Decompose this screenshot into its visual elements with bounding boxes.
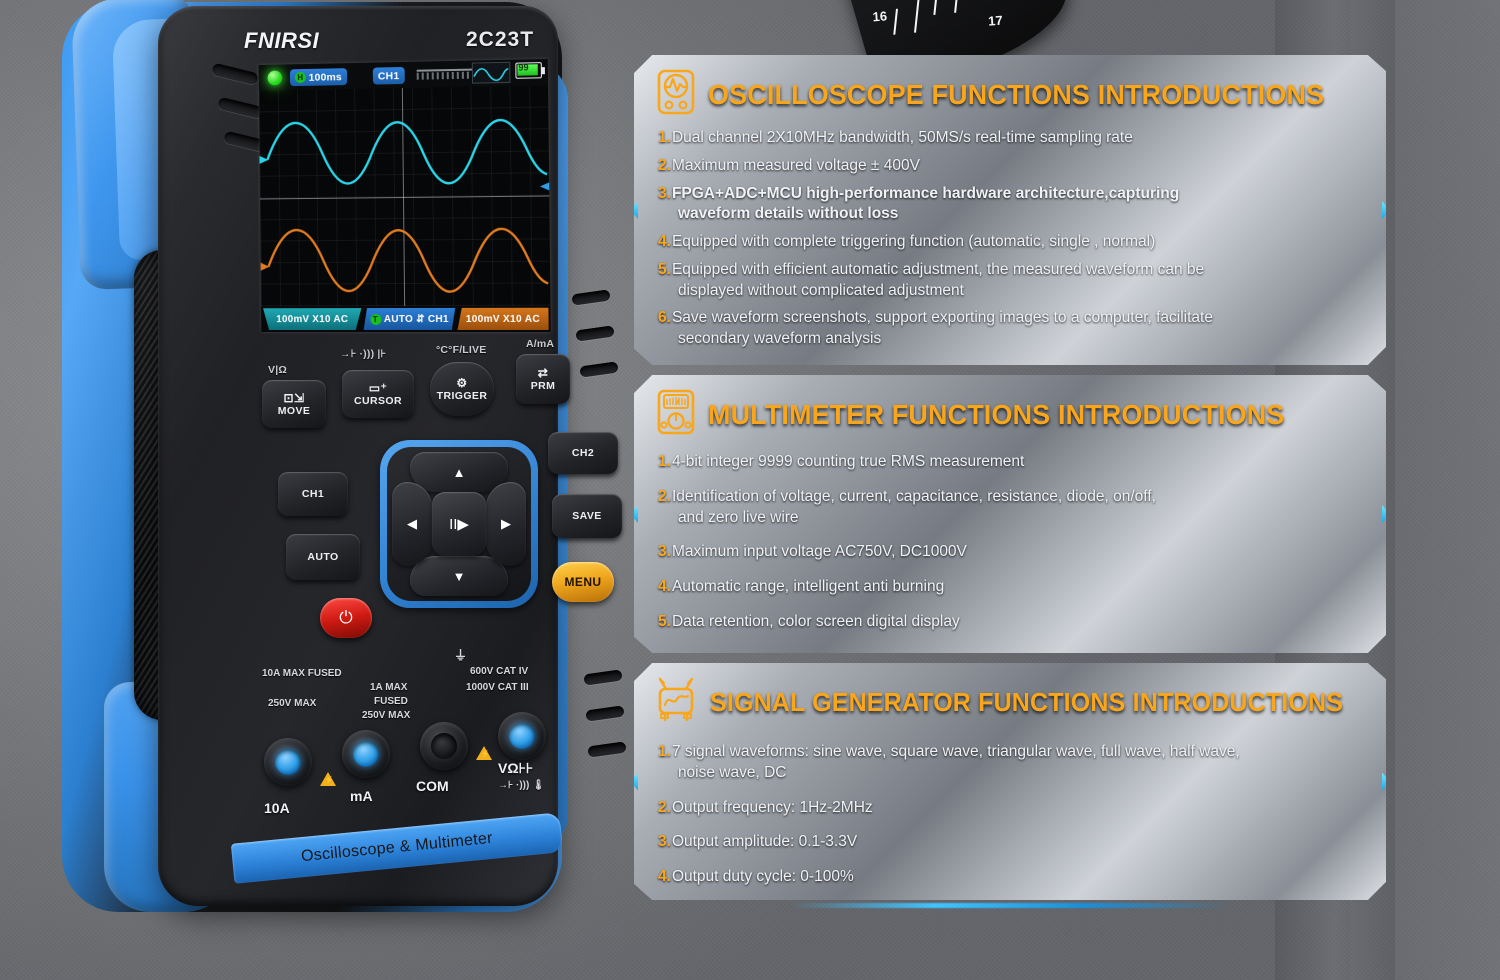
panel-multimeter: MULTIMETER FUNCTIONS INTRODUCTIONS 1. 4-…: [634, 375, 1386, 653]
item-number: 3.: [658, 184, 671, 205]
move-label: MOVE: [278, 405, 311, 417]
trigger-label: TRIGGER: [437, 390, 488, 402]
bottom-accent-glow: [790, 903, 1230, 908]
multimeter-icon: [656, 389, 696, 440]
prm-label: PRM: [531, 380, 556, 392]
list-item: 4. Output duty cycle: 0-100%: [658, 867, 1366, 888]
jack-10a-rating-line1: 10A MAX FUSED: [262, 668, 342, 681]
power-icon: ⏻: [339, 608, 352, 628]
list-item: 1. 4-bit integer 9999 counting true RMS …: [658, 452, 1366, 473]
timebase-value: 100ms: [309, 71, 342, 84]
device-vent-right: [585, 705, 624, 721]
device-vent-right: [575, 325, 614, 341]
jack-vohm-socket: [509, 723, 535, 749]
item-number: 6.: [658, 308, 671, 329]
status-trigger[interactable]: T AUTO ⇵ CH1: [363, 308, 455, 330]
item-text: Output duty cycle: 0-100%: [672, 867, 854, 888]
menu-label: MENU: [565, 575, 602, 589]
item-text-line2: noise wave, DC: [672, 763, 1240, 784]
item-text: Maximum input voltage AC750V, DC1000V: [672, 542, 967, 563]
trigger-channel: CH1: [428, 313, 449, 324]
item-number: 5.: [658, 260, 671, 281]
list-item: 5. Equipped with efficient automatic adj…: [658, 260, 1366, 302]
item-text: Output amplitude: 0.1-3.3V: [672, 832, 857, 853]
jack-vohm-sublabel: →⊦ ·))) 🌡: [498, 780, 545, 793]
jack-vohm-rating-line2: 1000V CAT III: [466, 682, 529, 695]
item-text-line2: secondary waveform analysis: [672, 329, 1213, 350]
panel-header: SIGNAL GENERATOR FUNCTIONS INTRODUCTIONS: [634, 663, 1386, 734]
prm-button[interactable]: ⇄ PRM: [516, 354, 570, 404]
sliders-icon: ⇄: [538, 367, 548, 379]
dpad-left-icon: ◀: [407, 516, 417, 532]
item-text: Automatic range, intelligent anti burnin…: [672, 577, 944, 598]
list-item: 1. 7 signal waveforms: sine wave, square…: [658, 742, 1366, 784]
panel-title: OSCILLOSCOPE FUNCTIONS INTRODUCTIONS: [708, 79, 1324, 111]
auto-button[interactable]: AUTO: [286, 534, 360, 580]
gear-icon: ⚙: [456, 377, 467, 389]
trigger-level-marker: [540, 182, 549, 190]
trigger-button[interactable]: ⚙ TRIGGER: [430, 362, 494, 416]
dpad-down-icon: ▼: [453, 569, 466, 584]
ch1-waveform: [267, 119, 547, 185]
item-number: 3.: [658, 832, 671, 853]
item-text: Dual channel 2X10MHz bandwidth, 50MS/s r…: [672, 128, 1133, 149]
ch2-button[interactable]: CH2: [548, 432, 618, 474]
item-text: Maximum measured voltage ± 400V: [672, 156, 920, 177]
signal-generator-icon: [656, 677, 698, 728]
mini-waveform-preview: [472, 62, 511, 84]
list-item: 2. Maximum measured voltage ± 400V: [658, 156, 1366, 177]
prm-secondary-label: A/mA: [526, 338, 554, 350]
jack-ma-label: mA: [350, 788, 373, 804]
jack-vohm[interactable]: [498, 712, 546, 760]
warning-icon: [476, 746, 492, 760]
move-secondary-label: V|Ω: [268, 364, 287, 376]
jack-ma-rating-line3: 250V MAX: [362, 710, 410, 723]
dpad-up-button[interactable]: ▲: [410, 452, 508, 492]
ground-symbol: ⏚: [454, 648, 467, 664]
panel-title: SIGNAL GENERATOR FUNCTIONS INTRODUCTIONS: [710, 687, 1343, 718]
list-item: 2. Identification of voltage, current, c…: [658, 487, 1366, 529]
move-button[interactable]: ⊡⇲ MOVE: [262, 380, 326, 428]
item-text: Data retention, color screen digital dis…: [672, 612, 960, 633]
jack-vohm-rating-line1: 600V CAT IV: [470, 666, 528, 679]
runstop-icon: II▶: [449, 515, 469, 533]
jack-10a-label: 10A: [264, 800, 290, 816]
ch2-marker: [261, 263, 270, 271]
item-text: Output frequency: 1Hz-2MHz: [672, 798, 873, 819]
list-item: 6. Save waveform screenshots, support ex…: [658, 308, 1366, 350]
waveform-grid: [259, 85, 551, 306]
model-number: 2C23T: [466, 28, 534, 52]
list-item: 3. FPGA+ADC+MCU high-performance hardwar…: [658, 184, 1366, 226]
timebase-icon: H: [295, 72, 306, 83]
item-number: 2.: [658, 798, 671, 819]
item-text-line2: waveform details without loss: [672, 204, 1179, 225]
item-text: FPGA+ADC+MCU high-performance hardware a…: [672, 185, 1179, 202]
item-number: 4.: [658, 577, 671, 598]
item-text: Equipped with efficient automatic adjust…: [672, 261, 1204, 278]
ch1-button[interactable]: CH1: [278, 472, 348, 516]
battery-icon: 99: [515, 62, 542, 79]
bottom-strip-label: Oscilloscope & Multimeter: [300, 830, 493, 866]
item-text-line2: displayed without complicated adjustment: [672, 281, 1204, 302]
trigger-marks: [417, 72, 469, 80]
jack-10a-socket: [275, 749, 301, 775]
dpad-right-button[interactable]: ▶: [486, 482, 526, 566]
cursor-icon: ▭⁺: [369, 382, 387, 394]
panel-list: 1. Dual channel 2X10MHz bandwidth, 50MS/…: [634, 126, 1386, 369]
panel-list: 1. 4-bit integer 9999 counting true RMS …: [634, 446, 1386, 652]
jack-ma-socket: [353, 741, 379, 767]
save-button[interactable]: SAVE: [552, 494, 622, 538]
oscilloscope-icon: [656, 69, 696, 120]
trigger-mode: AUTO: [384, 313, 413, 324]
product-device-image: FNIRSI 2C23T H 100ms CH1: [62, 0, 602, 942]
jack-vohm-label: VΩ⊦⊦: [498, 760, 533, 777]
device-vent-right: [571, 289, 610, 305]
item-text-line2: and zero live wire: [672, 508, 1156, 529]
item-number: 2.: [658, 487, 671, 508]
ch1-label: CH1: [302, 488, 324, 500]
jack-ma-rating-line2: FUSED: [374, 696, 408, 709]
panel-header: OSCILLOSCOPE FUNCTIONS INTRODUCTIONS: [634, 55, 1386, 126]
item-text: Equipped with complete triggering functi…: [672, 232, 1155, 253]
list-item: 3. Maximum input voltage AC750V, DC1000V: [658, 542, 1366, 563]
jack-com-label: COM: [416, 778, 449, 794]
battery-percent: 99: [518, 62, 528, 72]
list-item: 1. Dual channel 2X10MHz bandwidth, 50MS/…: [658, 128, 1366, 149]
auto-label: AUTO: [307, 551, 338, 563]
device-vent-right: [583, 669, 622, 685]
panel-signal-generator: SIGNAL GENERATOR FUNCTIONS INTRODUCTIONS…: [634, 663, 1386, 900]
jack-ma-rating-line1: 1A MAX: [370, 682, 407, 695]
screen-bottom-bar: 100mV X10 AC T AUTO ⇵ CH1 100mV X10 AC: [261, 306, 551, 332]
panel-oscilloscope: OSCILLOSCOPE FUNCTIONS INTRODUCTIONS 1. …: [634, 55, 1386, 365]
item-number: 4.: [658, 867, 671, 888]
list-item: 5. Data retention, color screen digital …: [658, 612, 1366, 633]
ch1-marker: [260, 156, 269, 164]
item-text: 4-bit integer 9999 counting true RMS mea…: [672, 452, 1024, 473]
item-number: 1.: [658, 128, 671, 149]
item-text: Save waveform screenshots, support expor…: [672, 309, 1213, 326]
screen-top-bar: H 100ms CH1 99: [259, 59, 549, 91]
brand-logo: FNIRSI: [244, 28, 319, 54]
jack-ma[interactable]: [342, 730, 390, 778]
jack-10a[interactable]: [264, 738, 312, 786]
cursor-label: CURSOR: [354, 395, 402, 407]
ch2-label: CH2: [572, 447, 594, 459]
warning-icon: [320, 772, 336, 786]
item-text: 7 signal waveforms: sine wave, square wa…: [672, 743, 1240, 760]
list-item: 3. Output amplitude: 0.1-3.3V: [658, 832, 1366, 853]
jack-com[interactable]: [420, 722, 468, 770]
item-number: 5.: [658, 612, 671, 633]
move-icon: ⊡⇲: [284, 392, 305, 404]
menu-button[interactable]: MENU: [552, 562, 614, 602]
dpad-up-icon: ▲: [453, 465, 466, 480]
item-number: 4.: [658, 232, 671, 253]
status-ch2-scale[interactable]: 100mV X10 AC: [457, 308, 548, 330]
jack-com-socket: [431, 733, 457, 759]
status-led: [267, 70, 282, 85]
save-label: SAVE: [572, 510, 601, 522]
item-number: 1.: [658, 452, 671, 473]
dpad-runstop-button[interactable]: II▶: [432, 492, 486, 556]
item-number: 1.: [658, 742, 671, 763]
trigger-icon: T: [370, 314, 381, 325]
jack-10a-rating-line2: 250V MAX: [268, 698, 316, 711]
channel-badge[interactable]: CH1: [373, 67, 405, 85]
device-vent-right: [587, 741, 626, 757]
dpad-down-button[interactable]: ▼: [410, 556, 508, 596]
item-number: 2.: [658, 156, 671, 177]
status-ch1-scale[interactable]: 100mV X10 AC: [263, 308, 362, 330]
timebase-badge[interactable]: H 100ms: [290, 68, 347, 86]
device-vent-right: [579, 361, 618, 377]
device-screen: H 100ms CH1 99 100mV X10 AC T AUTO ⇵ CH1…: [259, 59, 551, 332]
item-number: 3.: [658, 542, 671, 563]
ch2-waveform: [268, 228, 548, 292]
dpad-left-button[interactable]: ◀: [392, 482, 432, 566]
dpad-right-icon: ▶: [501, 516, 511, 532]
panel-title: MULTIMETER FUNCTIONS INTRODUCTIONS: [708, 399, 1284, 431]
trigger-source-icon: ⇵: [416, 313, 425, 324]
list-item: 4. Equipped with complete triggering fun…: [658, 232, 1366, 253]
cursor-secondary-label: →⊦ ·))) |⊦: [340, 348, 386, 360]
panel-header: MULTIMETER FUNCTIONS INTRODUCTIONS: [634, 375, 1386, 446]
list-item: 2. Output frequency: 1Hz-2MHz: [658, 798, 1366, 819]
waveform-svg: [259, 85, 551, 306]
item-text: Identification of voltage, current, capa…: [672, 488, 1156, 505]
cursor-button[interactable]: ▭⁺ CURSOR: [342, 370, 414, 418]
panel-list: 1. 7 signal waveforms: sine wave, square…: [634, 734, 1386, 907]
trigger-secondary-label: °C°F/LIVE: [436, 344, 486, 356]
dpad-control[interactable]: ▲ ▼ ◀ ▶ II▶: [380, 440, 538, 608]
power-button[interactable]: ⏻: [320, 598, 372, 638]
list-item: 4. Automatic range, intelligent anti bur…: [658, 577, 1366, 598]
